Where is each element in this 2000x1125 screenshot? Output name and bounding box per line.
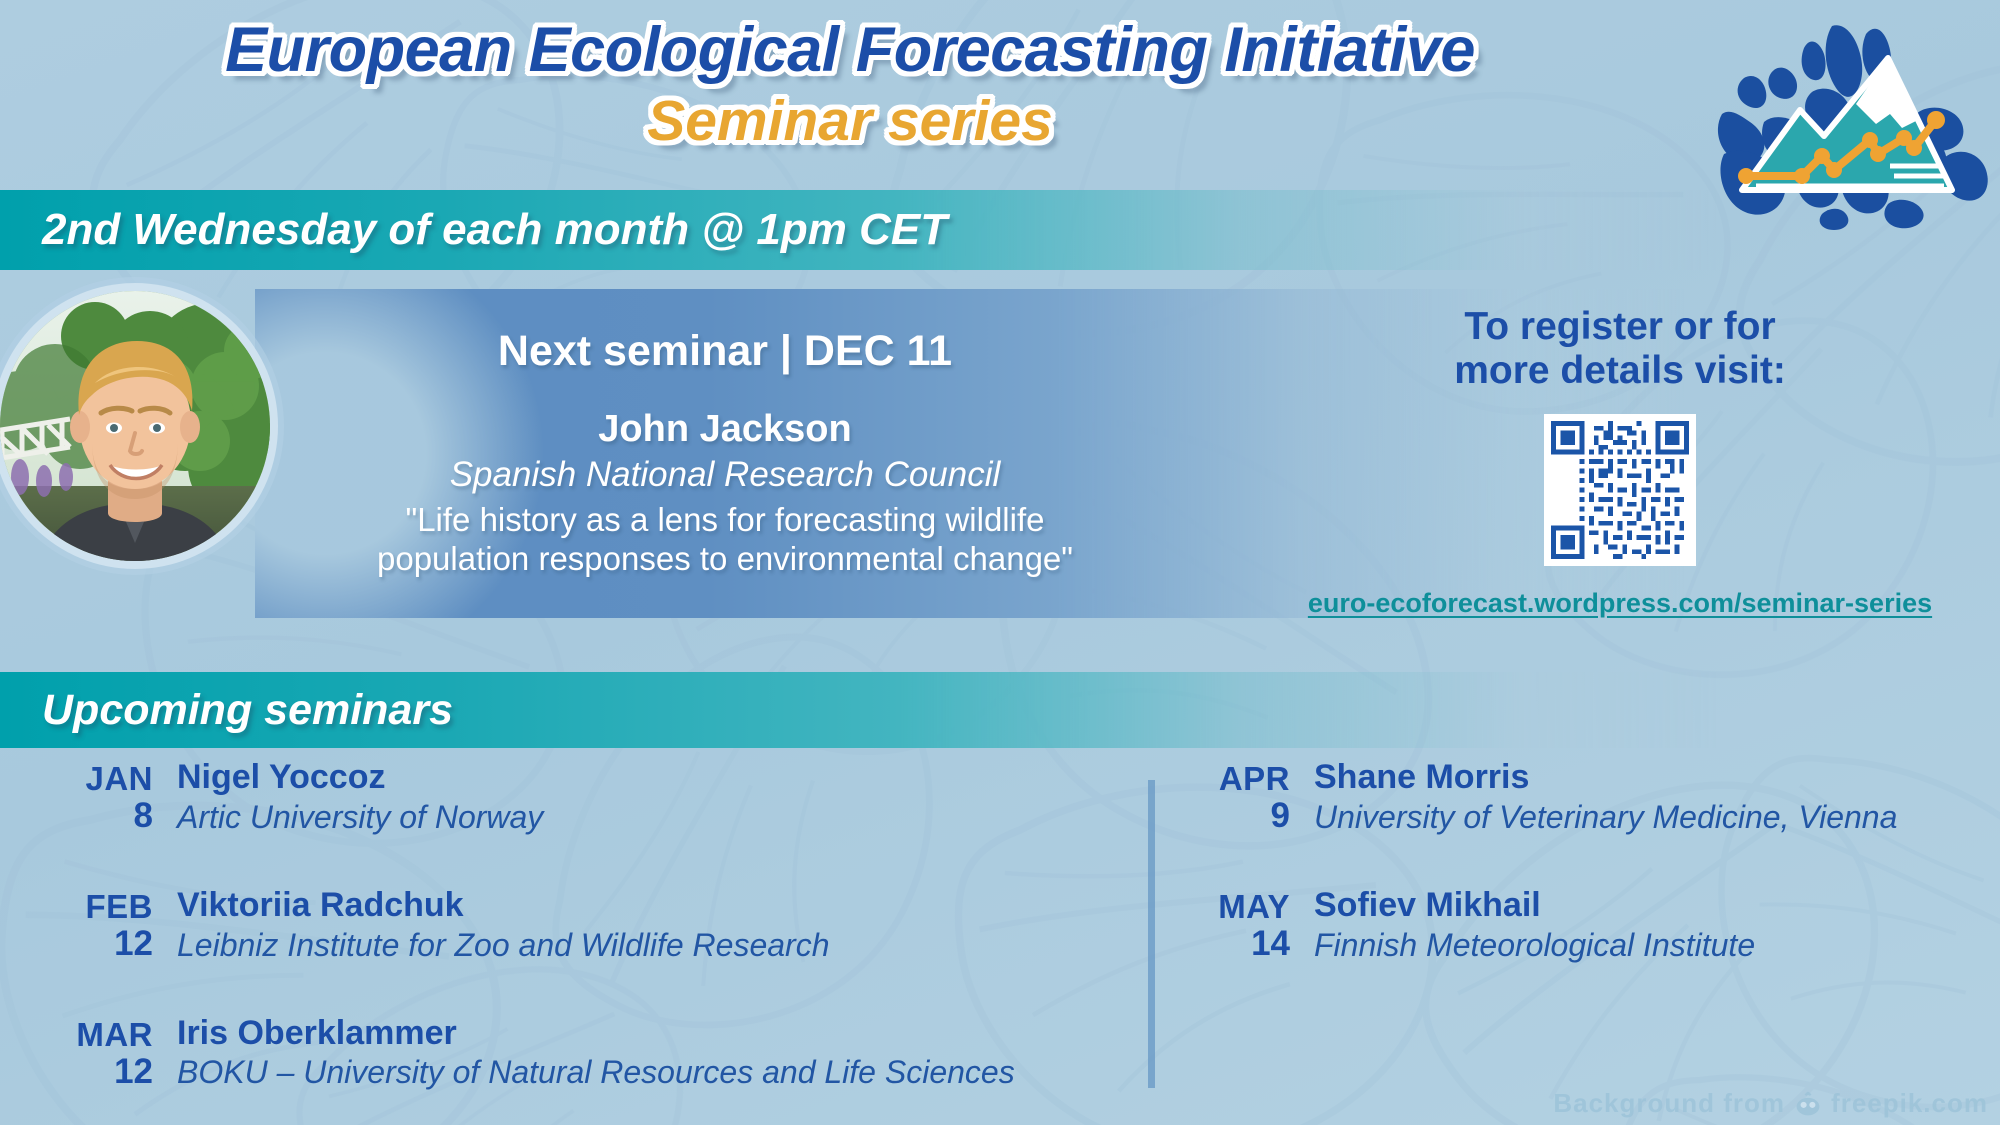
register-heading-line-2: more details visit:: [1250, 349, 1990, 393]
freepik-attribution: Background from freepik.com: [1553, 1088, 1988, 1119]
avatar: [0, 291, 270, 561]
seminar-speaker-name: Sofiev Mikhail: [1314, 888, 1755, 924]
speaker-affiliation: Spanish National Research Council: [255, 455, 1195, 495]
upcoming-seminars-bar: Upcoming seminars: [0, 672, 2000, 748]
seminar-speaker-org: Finnish Meteorological Institute: [1314, 928, 1755, 963]
seminar-day: 12: [48, 926, 153, 961]
seminar-month: FEB: [48, 890, 153, 923]
seminar-month: JAN: [48, 762, 153, 795]
column-divider: [1148, 780, 1155, 1088]
seminar-series-link[interactable]: euro-ecoforecast.wordpress.com/seminar-s…: [1308, 588, 1932, 619]
seminar-day: 12: [48, 1054, 153, 1089]
upcoming-column-left: JAN 8 Nigel Yoccoz Artic University of N…: [48, 760, 1128, 1125]
speaker-name: John Jackson: [255, 408, 1195, 451]
seminar-date: FEB 12: [48, 888, 153, 961]
schedule-text: 2nd Wednesday of each month @ 1pm CET: [42, 205, 947, 255]
seminar-date: APR 9: [1185, 760, 1290, 833]
register-block: To register or for more details visit:: [1250, 305, 1990, 619]
upcoming-seminars-list: JAN 8 Nigel Yoccoz Artic University of N…: [0, 760, 2000, 1125]
seminar-date: MAY 14: [1185, 888, 1290, 961]
poster-header: European Ecological Forecasting Initiati…: [0, 0, 2000, 190]
list-item[interactable]: JAN 8 Nigel Yoccoz Artic University of N…: [48, 760, 1128, 835]
list-item[interactable]: APR 9 Shane Morris University of Veterin…: [1185, 760, 1985, 835]
next-seminar-text: Next seminar | DEC 11 John Jackson Spani…: [255, 289, 1195, 579]
seminar-month: MAR: [48, 1018, 153, 1051]
avatar-ring: [0, 283, 278, 569]
seminar-poster: European Ecological Forecasting Initiati…: [0, 0, 2000, 1125]
upcoming-seminars-heading: Upcoming seminars: [42, 686, 453, 735]
seminar-info: Sofiev Mikhail Finnish Meteorological In…: [1314, 888, 1755, 963]
seminar-info: Nigel Yoccoz Artic University of Norway: [177, 760, 543, 835]
seminar-day: 9: [1185, 798, 1290, 833]
watermark-text: Background from: [1553, 1088, 1785, 1119]
next-seminar-heading: Next seminar | DEC 11: [255, 327, 1195, 376]
seminar-speaker-org: BOKU – University of Natural Resources a…: [177, 1055, 1015, 1090]
seminar-date: MAR 12: [48, 1016, 153, 1089]
seminar-month: MAY: [1185, 890, 1290, 923]
upcoming-column-right: APR 9 Shane Morris University of Veterin…: [1185, 760, 1985, 1016]
schedule-bar: 2nd Wednesday of each month @ 1pm CET: [0, 190, 2000, 270]
seminar-info: Viktoriia Radchuk Leibniz Institute for …: [177, 888, 829, 963]
register-heading-line-1: To register or for: [1250, 305, 1990, 349]
seminar-month: APR: [1185, 762, 1290, 795]
talk-title-line-2: population responses to environmental ch…: [255, 540, 1195, 579]
seminar-speaker-org: Artic University of Norway: [177, 800, 543, 835]
talk-title-line-1: "Life history as a lens for forecasting …: [255, 501, 1195, 540]
seminar-info: Iris Oberklammer BOKU – University of Na…: [177, 1016, 1015, 1091]
freepik-logo-icon: [1794, 1090, 1822, 1118]
seminar-date: JAN 8: [48, 760, 153, 833]
seminar-speaker-name: Shane Morris: [1314, 760, 1897, 796]
seminar-speaker-name: Nigel Yoccoz: [177, 760, 543, 796]
seminar-day: 8: [48, 798, 153, 833]
list-item[interactable]: MAY 14 Sofiev Mikhail Finnish Meteorolog…: [1185, 888, 1985, 963]
list-item[interactable]: MAR 12 Iris Oberklammer BOKU – Universit…: [48, 1016, 1128, 1091]
seminar-info: Shane Morris University of Veterinary Me…: [1314, 760, 1897, 835]
qr-code-icon[interactable]: [1544, 414, 1696, 566]
seminar-day: 14: [1185, 926, 1290, 961]
seminar-speaker-name: Iris Oberklammer: [177, 1016, 1015, 1052]
seminar-speaker-name: Viktoriia Radchuk: [177, 888, 829, 924]
list-item[interactable]: FEB 12 Viktoriia Radchuk Leibniz Institu…: [48, 888, 1128, 963]
page-subtitle: Seminar series: [0, 88, 1700, 154]
seminar-speaker-org: Leibniz Institute for Zoo and Wildlife R…: [177, 928, 829, 963]
seminar-speaker-org: University of Veterinary Medicine, Vienn…: [1314, 800, 1897, 835]
watermark-brand: freepik.com: [1831, 1088, 1988, 1119]
page-title: European Ecological Forecasting Initiati…: [0, 14, 1700, 86]
